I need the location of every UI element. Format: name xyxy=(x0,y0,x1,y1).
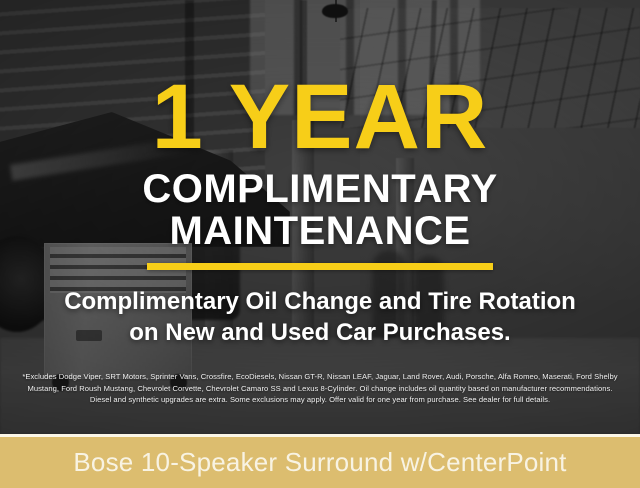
headline-subtitle: COMPLIMENTARY MAINTENANCE xyxy=(142,169,497,252)
maintenance-promo-ad: 1 YEAR COMPLIMENTARY MAINTENANCE Complim… xyxy=(0,0,640,488)
headline-year: 1 YEAR xyxy=(152,78,489,157)
promo-content: 1 YEAR COMPLIMENTARY MAINTENANCE Complim… xyxy=(0,0,640,434)
offer-line-1: Complimentary Oil Change and Tire Rotati… xyxy=(64,288,576,315)
feature-banner: Bose 10-Speaker Surround w/CenterPoint xyxy=(0,437,640,488)
offer-description: Complimentary Oil Change and Tire Rotati… xyxy=(64,286,576,348)
disclaimer-line-1: *Excludes Dodge Viper, SRT Motors, Sprin… xyxy=(12,371,628,383)
disclaimer-fine-print: *Excludes Dodge Viper, SRT Motors, Sprin… xyxy=(12,371,628,406)
headline-subtitle-line-2: MAINTENANCE xyxy=(142,211,497,253)
feature-banner-text: Bose 10-Speaker Surround w/CenterPoint xyxy=(73,447,566,478)
yellow-divider-rule xyxy=(147,263,493,270)
disclaimer-line-2: Mustang, Ford Roush Mustang, Chevrolet C… xyxy=(12,383,628,395)
disclaimer-line-3: Diesel and synthetic upgrades are extra.… xyxy=(12,394,628,406)
offer-line-2: on New and Used Car Purchases. xyxy=(64,317,576,348)
headline-subtitle-line-1: COMPLIMENTARY xyxy=(142,167,497,211)
